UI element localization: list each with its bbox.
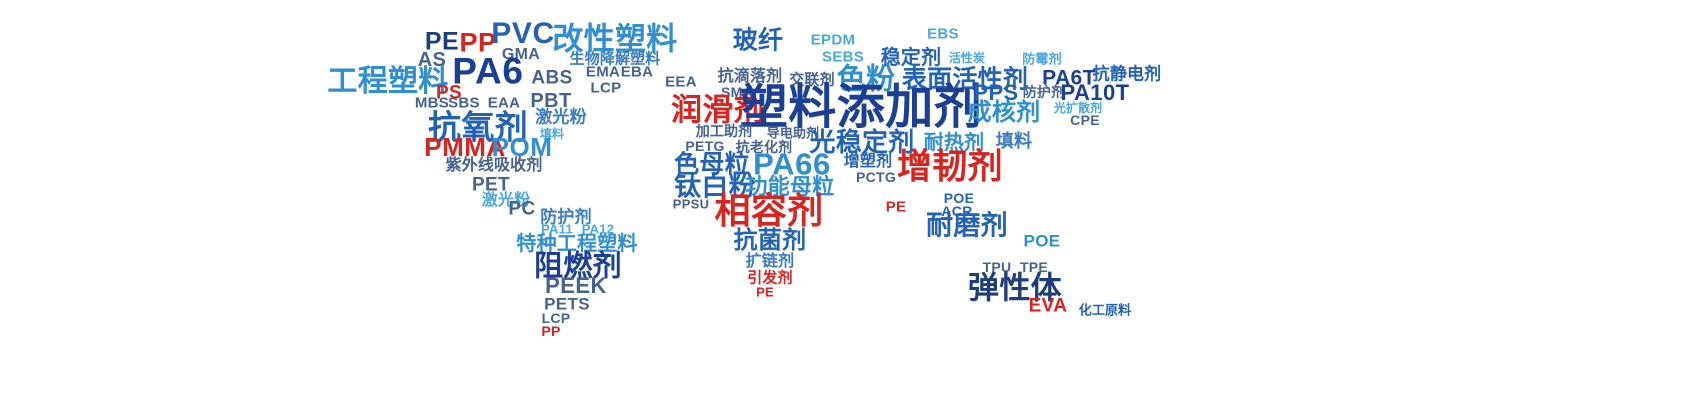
- word-cloud-term[interactable]: 抗菌剂: [734, 228, 807, 252]
- word-cloud-term[interactable]: EMA: [586, 65, 620, 80]
- word-cloud-term[interactable]: 增塑剂: [844, 153, 892, 169]
- word-cloud-term[interactable]: 激光粉: [535, 110, 587, 127]
- word-cloud-term[interactable]: 耐磨剂: [926, 213, 1008, 240]
- word-cloud-term[interactable]: PE: [886, 200, 907, 215]
- word-cloud-term[interactable]: 防霉剂: [1022, 54, 1061, 67]
- word-cloud-term[interactable]: PC: [508, 200, 535, 219]
- word-cloud-term[interactable]: EEA: [665, 75, 697, 90]
- word-cloud-term[interactable]: POE: [1024, 233, 1061, 250]
- word-cloud-canvas: PEPPPVCGMA改性塑料生物降解塑料玻纤EPDMEBSASPA6ABSEMA…: [0, 0, 1707, 400]
- word-cloud-term[interactable]: 化工原料: [1079, 305, 1132, 318]
- word-cloud-term[interactable]: EBS: [927, 27, 959, 42]
- word-cloud-term[interactable]: PP: [541, 324, 560, 338]
- word-cloud-term[interactable]: EBA: [621, 65, 654, 80]
- word-cloud-term[interactable]: PPSU: [673, 198, 709, 211]
- word-cloud-term[interactable]: EVA: [1029, 297, 1068, 316]
- word-cloud-term[interactable]: 相容剂: [714, 194, 823, 230]
- word-cloud-term[interactable]: 塑料添加剂: [740, 83, 982, 131]
- word-cloud-term[interactable]: PE: [756, 286, 774, 299]
- word-cloud-term[interactable]: 扩链剂: [746, 253, 794, 269]
- word-cloud-term[interactable]: 活性炭: [949, 52, 985, 64]
- word-cloud-term[interactable]: ABS: [531, 69, 572, 88]
- word-cloud-term[interactable]: 加工助剂: [696, 125, 753, 139]
- word-cloud-term[interactable]: EPDM: [811, 33, 856, 48]
- word-cloud-term[interactable]: CPE: [1070, 113, 1100, 127]
- word-cloud-term[interactable]: 紫外线吸收剂: [446, 157, 543, 173]
- word-cloud-term[interactable]: 工程塑料: [327, 67, 448, 97]
- word-cloud-term[interactable]: PPS: [973, 82, 1018, 104]
- word-cloud-term[interactable]: LCP: [591, 81, 622, 96]
- word-cloud-term[interactable]: PVC: [491, 19, 555, 49]
- word-cloud-term[interactable]: 玻纤: [733, 28, 784, 53]
- word-cloud-term[interactable]: PA6: [452, 53, 523, 90]
- word-cloud-term[interactable]: 引发剂: [747, 271, 792, 286]
- word-cloud-term[interactable]: PCTG: [856, 170, 896, 184]
- word-cloud-term[interactable]: 增韧剂: [897, 151, 1003, 186]
- word-cloud-term[interactable]: 防护剂: [1023, 86, 1065, 100]
